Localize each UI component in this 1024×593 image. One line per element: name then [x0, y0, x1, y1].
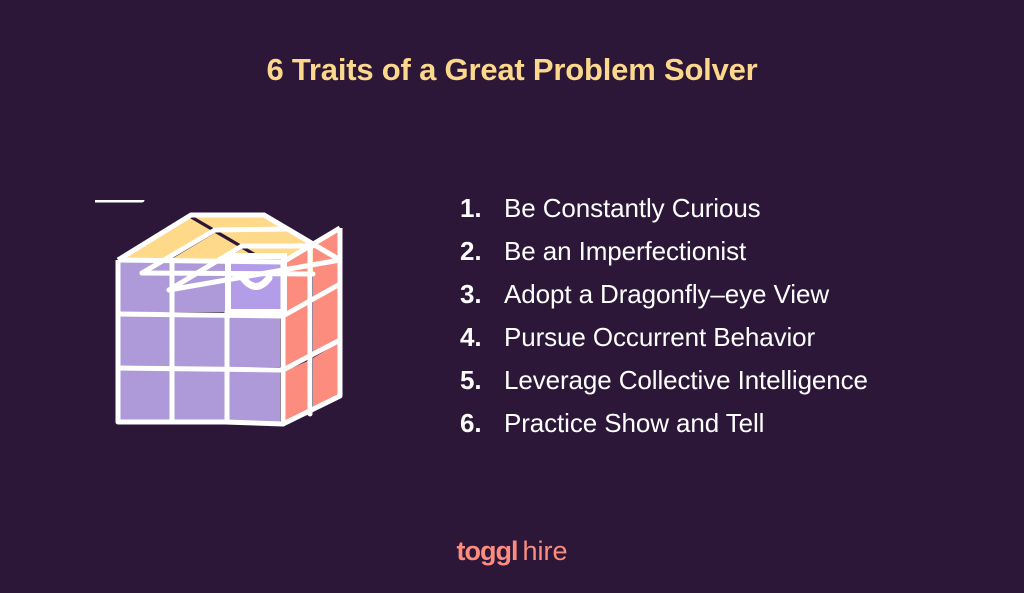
list-item-number: 1.	[460, 193, 504, 224]
list-item-number: 3.	[460, 279, 504, 310]
list-item-label: Leverage Collective Intelligence	[504, 365, 868, 396]
list-item: 3. Adopt a Dragonfly–eye View	[460, 279, 980, 322]
list-item-number: 2.	[460, 236, 504, 267]
list-item-number: 4.	[460, 322, 504, 353]
cube-svg	[95, 200, 360, 445]
list-item: 2. Be an Imperfectionist	[460, 236, 980, 279]
traits-list: 1. Be Constantly Curious 2. Be an Imperf…	[460, 193, 980, 451]
list-item: 5. Leverage Collective Intelligence	[460, 365, 980, 408]
list-item: 1. Be Constantly Curious	[460, 193, 980, 236]
list-item-label: Adopt a Dragonfly–eye View	[504, 279, 829, 310]
list-item: 6. Practice Show and Tell	[460, 408, 980, 451]
logo-primary-text: toggl	[456, 536, 517, 566]
rubiks-cube-illustration	[95, 200, 360, 445]
page-title: 6 Traits of a Great Problem Solver	[0, 52, 1024, 88]
slide-canvas: 6 Traits of a Great Problem Solver	[0, 0, 1024, 593]
toggl-hire-logo: togglhire	[0, 538, 1024, 565]
list-item-number: 6.	[460, 408, 504, 439]
logo-secondary-text: hire	[522, 536, 567, 566]
list-item: 4. Pursue Occurrent Behavior	[460, 322, 980, 365]
list-item-number: 5.	[460, 365, 504, 396]
list-item-label: Pursue Occurrent Behavior	[504, 322, 815, 353]
list-item-label: Be an Imperfectionist	[504, 236, 746, 267]
list-item-label: Be Constantly Curious	[504, 193, 761, 224]
list-item-label: Practice Show and Tell	[504, 408, 764, 439]
